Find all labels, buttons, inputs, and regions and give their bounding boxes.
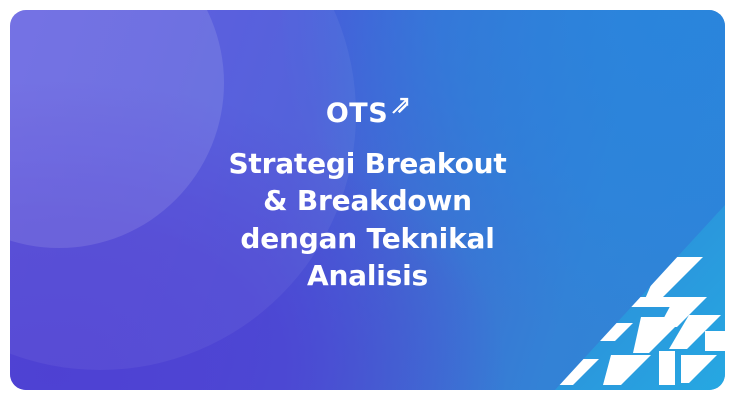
headline-line-3: dengan Teknikal: [228, 220, 506, 257]
brand-wordmark: OTS: [326, 100, 388, 127]
headline-line-4: Analisis: [228, 257, 506, 294]
headline-line-2: & Breakdown: [228, 182, 506, 219]
headline-line-1: Strategi Breakout: [228, 145, 506, 182]
arrow-up-right-icon: [389, 97, 409, 115]
promo-banner-card: OTS Strategi Breakout & Breakdown dengan…: [10, 10, 725, 390]
screenshot-canvas: OTS Strategi Breakout & Breakdown dengan…: [0, 0, 735, 400]
page-title: Strategi Breakout & Breakdown dengan Tek…: [188, 145, 546, 294]
banner-content: OTS Strategi Breakout & Breakdown dengan…: [10, 10, 725, 390]
brand-logo: OTS: [326, 100, 409, 127]
